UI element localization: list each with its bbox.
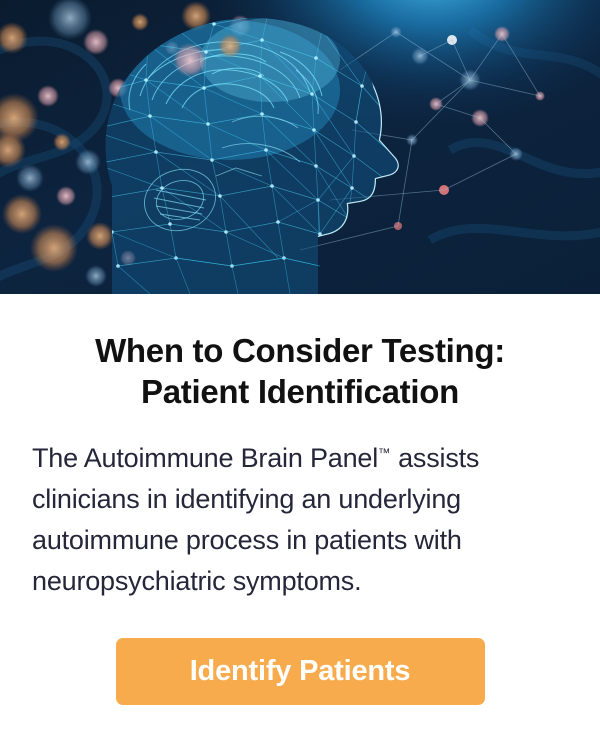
advertisement-card: When to Consider Testing: Patient Identi…: [0, 0, 600, 751]
body-description: The Autoimmune Brain Panel™ assists clin…: [0, 412, 600, 602]
headline-line-1: When to Consider Testing:: [24, 330, 576, 371]
content-area: When to Consider Testing: Patient Identi…: [0, 306, 600, 751]
headline-line-2: Patient Identification: [24, 371, 576, 412]
trademark-symbol: ™: [378, 446, 391, 460]
identify-patients-button[interactable]: Identify Patients: [116, 638, 485, 705]
hero-image: [0, 0, 600, 294]
page-title: When to Consider Testing: Patient Identi…: [0, 306, 600, 412]
neural-head-illustration: [0, 0, 600, 294]
body-text-before-trademark: The Autoimmune Brain Panel: [32, 443, 378, 473]
cta-container: Identify Patients: [0, 638, 600, 705]
